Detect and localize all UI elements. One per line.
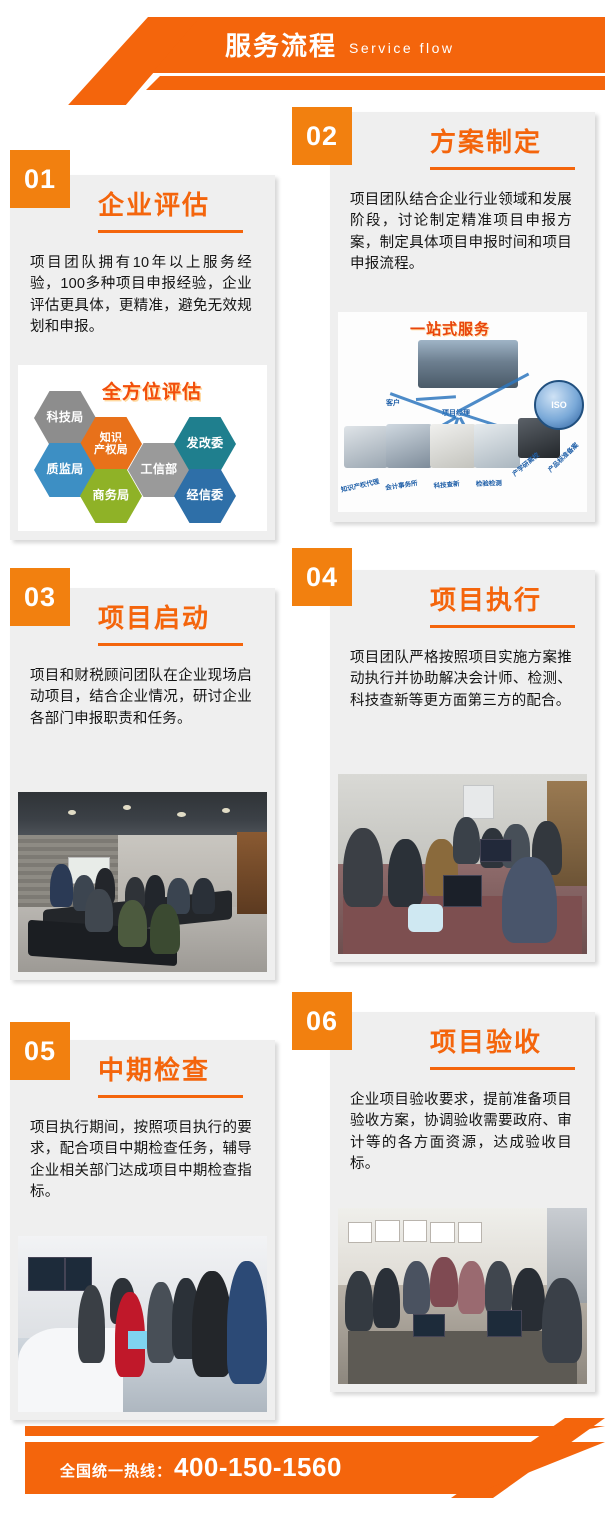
os-arrow-client (416, 395, 456, 401)
card-02-number-badge: 02 (292, 107, 352, 165)
card-04-body: 项目团队严格按照项目实施方案推动执行并协助解决会计师、检测、科技查新等更方面第三… (350, 648, 572, 712)
photo-site-inspection-visit (18, 1236, 267, 1412)
os-certification-seal-icon: ISO (534, 380, 584, 430)
os-service-photo-3 (430, 424, 476, 468)
one-stop-title: 一站式服务 (410, 318, 490, 339)
card-01-body: 项目团队拥有10年以上服务经验，100多种项目申报经验，企业评估更具体，更精准，… (30, 253, 252, 339)
card-05-title-underline (98, 1095, 243, 1098)
os-service-label-3: 科技查新 (433, 478, 460, 490)
card-01-title: 企业评估 (98, 192, 210, 218)
process-card-02[interactable]: 方案制定 项目团队结合企业行业领域和发展阶段，讨论制定精准项目申报方案，制定具体… (330, 112, 595, 522)
footer-hotline-label: 全国统一热线： (60, 1460, 172, 1481)
card-06-title-underline (430, 1067, 575, 1070)
os-service-photo-4 (474, 424, 520, 468)
card-06-body: 企业项目验收要求，提前准备项目验收方案，协调验收需要政府、审计等的各方面资源，达… (350, 1090, 572, 1176)
os-service-label-4: 检验检测 (476, 477, 502, 488)
one-stop-client-label: 客户 (386, 398, 400, 408)
card-05-body: 项目执行期间，按照项目执行的要求，配合项目中期检查任务，辅导企业相关部门达成项目… (30, 1118, 252, 1204)
footer-hotline-number[interactable]: 400-150-1560 (174, 1452, 342, 1483)
process-card-03[interactable]: 项目启动 项目和财税顾问团队在企业现场启动项目，结合企业情况，研讨企业各部门申报… (10, 588, 275, 980)
footer-bar-thin (25, 1426, 605, 1436)
card-05-title: 中期检查 (98, 1057, 210, 1083)
header-title-group: 服务流程 Service flow (225, 22, 454, 70)
process-card-04[interactable]: 项目执行 项目团队严格按照项目实施方案推动执行并协助解决会计师、检测、科技查新等… (330, 570, 595, 962)
hexagon-chart-title: 全方位评估 (102, 377, 202, 404)
card-03-body: 项目和财税顾问团队在企业现场启动项目，结合企业情况，研讨企业各部门申报职责和任务… (30, 666, 252, 730)
header-title-en: Service flow (349, 37, 454, 55)
process-card-05[interactable]: 中期检查 项目执行期间，按照项目执行的要求，配合项目中期检查任务，辅导企业相关部… (10, 1040, 275, 1420)
card-04-title-underline (430, 625, 575, 628)
process-card-01[interactable]: 企业评估 项目团队拥有10年以上服务经验，100多种项目申报经验，企业评估更具体… (10, 175, 275, 540)
os-service-label-2: 会计事务所 (384, 477, 418, 492)
footer-hotline-group: 全国统一热线： 400-150-1560 (60, 1452, 342, 1483)
card-03-number-badge: 03 (10, 568, 70, 626)
os-service-label-1: 知识产权代理 (340, 475, 380, 494)
hexagon-assessment-chart: 全方位评估 科技局 知识产权局 质监局 商务局 工信部 发改委 经信委 (18, 365, 267, 531)
page-header: 服务流程 Service flow (0, 0, 605, 105)
process-card-06[interactable]: 项目验收 企业项目验收要求，提前准备项目验收方案，协调验收需要政府、审计等的各方… (330, 1012, 595, 1392)
photo-conference-room-kickoff (18, 792, 267, 972)
one-stop-center-photo (418, 340, 518, 388)
os-service-photo-1 (344, 426, 388, 468)
card-04-number-badge: 04 (292, 548, 352, 606)
card-02-title-underline (430, 167, 575, 170)
one-stop-service-diagram: 一站式服务 客户 项目经理 ISO 知识产权代理 会计事务所 科技查新 检验检测… (338, 312, 587, 512)
photo-team-working-meeting (338, 774, 587, 954)
card-02-title: 方案制定 (430, 129, 542, 155)
page-footer: 全国统一热线： 400-150-1560 (0, 1418, 605, 1538)
card-01-title-underline (98, 230, 243, 233)
card-04-title: 项目执行 (430, 587, 542, 613)
card-06-title: 项目验收 (430, 1029, 542, 1055)
card-01-number-badge: 01 (10, 150, 70, 208)
card-02-body: 项目团队结合企业行业领域和发展阶段，讨论制定精准项目申报方案，制定具体项目申报时… (350, 190, 572, 276)
card-05-number-badge: 05 (10, 1022, 70, 1080)
card-03-title-underline (98, 643, 243, 646)
os-service-photo-2 (386, 424, 432, 468)
header-title-cn: 服务流程 (225, 33, 337, 59)
card-06-number-badge: 06 (292, 992, 352, 1050)
photo-acceptance-meeting (338, 1208, 587, 1384)
card-03-title: 项目启动 (98, 605, 210, 631)
